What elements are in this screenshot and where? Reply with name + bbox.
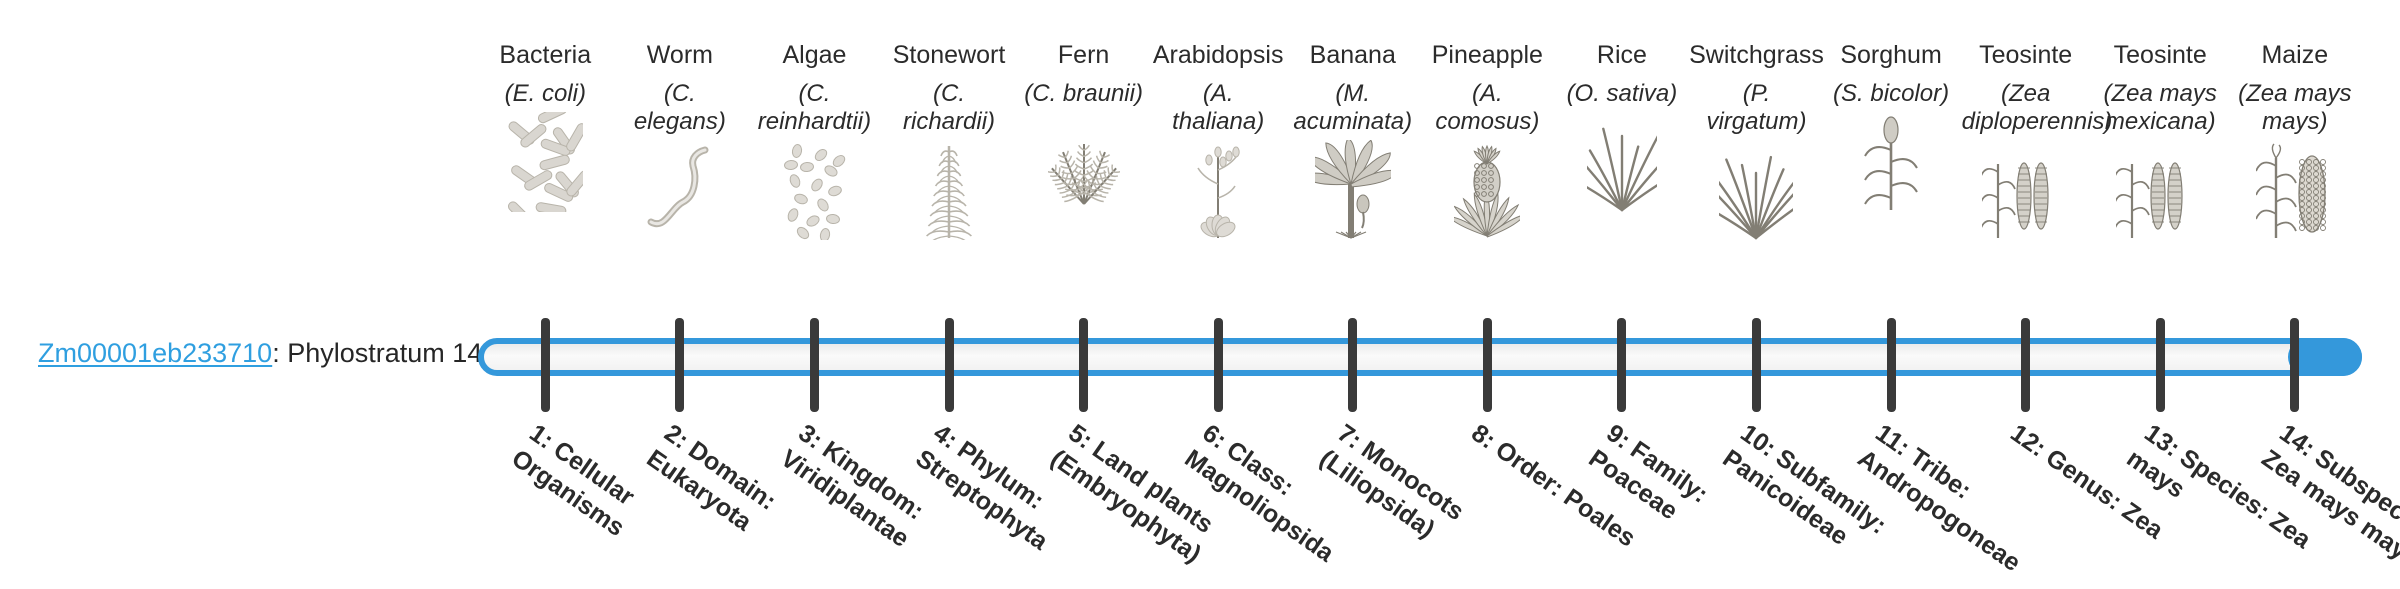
tick-cell	[1689, 318, 1824, 412]
tick-cell	[1555, 318, 1690, 412]
species-column: Switchgrass(P. virgatum)	[1689, 40, 1824, 312]
stratum-tick-mark	[675, 318, 684, 412]
species-common-name: Pineapple	[1432, 40, 1543, 70]
rank-cell: 7: Monocots (Liliopsida)	[1285, 412, 1420, 580]
tick-cell	[882, 318, 1017, 412]
bacteria-illustration	[478, 116, 613, 212]
banana-illustration	[1285, 144, 1420, 240]
rank-cell: 4: Phylum: Streptophyta	[882, 412, 1017, 580]
pineapple-illustration	[1420, 144, 1555, 240]
teosinte-mexicana-illustration	[2093, 144, 2228, 240]
species-scientific-name: (Zea diploperennis)	[1962, 80, 2090, 136]
tick-cell	[2093, 318, 2228, 412]
rank-cell: 12: Genus: Zea	[1958, 412, 2093, 580]
rank-cell: 5: Land plants (Embryophyta)	[1016, 412, 1151, 580]
species-common-name: Teosinte	[2114, 40, 2207, 70]
species-scientific-name: (A. thaliana)	[1154, 80, 1282, 136]
species-column: Teosinte(Zea diploperennis)	[1958, 40, 2093, 312]
species-common-name: Fern	[1058, 40, 1109, 70]
stratum-tick-mark	[1079, 318, 1088, 412]
species-column: Maize(Zea mays mays)	[2228, 40, 2363, 312]
taxonomic-rank-strip: 1: Cellular Organisms2: Domain: Eukaryot…	[478, 412, 2362, 580]
rank-cell: 13: Species: Zea mays	[2093, 412, 2228, 580]
rank-cell: 6: Class: Magnoliopsida	[1151, 412, 1286, 580]
rank-cell: 10: Subfamily: Panicoideae	[1689, 412, 1824, 580]
rank-cell: 3: Kingdom: Viridiplantae	[747, 412, 882, 580]
phylostratum-value: Phylostratum 14	[287, 338, 482, 368]
species-scientific-name: (C. reinhardtii)	[750, 80, 878, 136]
stratum-tick-mark	[2290, 318, 2299, 412]
species-common-name: Bacteria	[499, 40, 591, 70]
sorghum-illustration	[1824, 116, 1959, 212]
timeline-tick-group	[478, 318, 2362, 412]
gene-label-separator: :	[272, 338, 287, 368]
species-common-name: Worm	[647, 40, 713, 70]
species-scientific-name: (A. comosus)	[1423, 80, 1551, 136]
stratum-tick-mark	[1483, 318, 1492, 412]
species-common-name: Stonewort	[893, 40, 1006, 70]
worm-illustration	[613, 144, 748, 240]
stratum-tick-mark	[1752, 318, 1761, 412]
species-column: Algae(C. reinhardtii)	[747, 40, 882, 312]
species-scientific-name: (P. virgatum)	[1692, 80, 1820, 136]
species-column: Arabidopsis(A. thaliana)	[1151, 40, 1286, 312]
species-scientific-name: (S. bicolor)	[1833, 80, 1949, 108]
stratum-tick-mark	[1887, 318, 1896, 412]
stratum-tick-mark	[1214, 318, 1223, 412]
rank-cell: 8: Order: Poales	[1420, 412, 1555, 580]
species-common-name: Rice	[1597, 40, 1647, 70]
species-column: Banana(M. acuminata)	[1285, 40, 1420, 312]
species-column: Stonewort(C. richardii)	[882, 40, 1017, 312]
stratum-tick-mark	[810, 318, 819, 412]
species-header-strip: Bacteria(E. coli)Worm(C. elegans)Algae(C…	[478, 40, 2362, 312]
stratum-tick-mark	[541, 318, 550, 412]
rice-illustration	[1555, 116, 1690, 212]
species-common-name: Algae	[782, 40, 846, 70]
species-common-name: Sorghum	[1840, 40, 1941, 70]
taxonomic-rank-label: 14: Subspecies: Zea mays mays	[2255, 418, 2400, 589]
tick-cell	[1016, 318, 1151, 412]
species-scientific-name: (E. coli)	[505, 80, 586, 108]
species-column: Sorghum(S. bicolor)	[1824, 40, 1959, 312]
tick-cell	[1824, 318, 1959, 412]
species-column: Teosinte(Zea mays mexicana)	[2093, 40, 2228, 312]
rank-cell: 11: Tribe: Andropogoneae	[1824, 412, 1959, 580]
tick-cell	[2228, 318, 2363, 412]
rank-cell: 14: Subspecies: Zea mays mays	[2228, 412, 2363, 580]
species-scientific-name: (C. richardii)	[885, 80, 1013, 136]
stratum-tick-mark	[1617, 318, 1626, 412]
stonewort-illustration	[882, 144, 1017, 240]
species-scientific-name: (Zea mays mexicana)	[2096, 80, 2224, 136]
tick-cell	[747, 318, 882, 412]
tick-cell	[1285, 318, 1420, 412]
gene-phylostratum-label: Zm00001eb233710: Phylostratum 14	[38, 336, 458, 370]
species-scientific-name: (C. braunii)	[1024, 80, 1143, 108]
species-column: Rice(O. sativa)	[1555, 40, 1690, 312]
algae-illustration	[747, 144, 882, 240]
phylostratum-figure: Zm00001eb233710: Phylostratum 14 Bacteri…	[0, 0, 2400, 580]
species-column: Fern(C. braunii)	[1016, 40, 1151, 312]
fern-illustration	[1016, 116, 1151, 212]
species-scientific-name: (O. sativa)	[1567, 80, 1678, 108]
species-common-name: Teosinte	[1979, 40, 2072, 70]
tick-cell	[478, 318, 613, 412]
stratum-tick-mark	[2021, 318, 2030, 412]
species-column: Worm(C. elegans)	[613, 40, 748, 312]
tick-cell	[1958, 318, 2093, 412]
tick-cell	[613, 318, 748, 412]
tick-cell	[1151, 318, 1286, 412]
stratum-tick-mark	[1348, 318, 1357, 412]
rank-cell: 9: Family: Poaceae	[1555, 412, 1690, 580]
species-column: Pineapple(A. comosus)	[1420, 40, 1555, 312]
stratum-tick-mark	[945, 318, 954, 412]
species-scientific-name: (Zea mays mays)	[2231, 80, 2359, 136]
species-column: Bacteria(E. coli)	[478, 40, 613, 312]
gene-id-link[interactable]: Zm00001eb233710	[38, 338, 272, 368]
arabidopsis-illustration	[1151, 144, 1286, 240]
stratum-tick-mark	[2156, 318, 2165, 412]
species-common-name: Banana	[1310, 40, 1396, 70]
species-common-name: Arabidopsis	[1153, 40, 1284, 70]
teosinte-diploperennis-illustration	[1958, 144, 2093, 240]
species-scientific-name: (C. elegans)	[616, 80, 744, 136]
maize-illustration	[2228, 144, 2363, 240]
tick-cell	[1420, 318, 1555, 412]
species-common-name: Maize	[2261, 40, 2328, 70]
rank-cell: 1: Cellular Organisms	[478, 412, 613, 580]
species-common-name: Switchgrass	[1689, 40, 1824, 70]
rank-cell: 2: Domain: Eukaryota	[613, 412, 748, 580]
switchgrass-illustration	[1689, 144, 1824, 240]
species-scientific-name: (M. acuminata)	[1289, 80, 1417, 136]
